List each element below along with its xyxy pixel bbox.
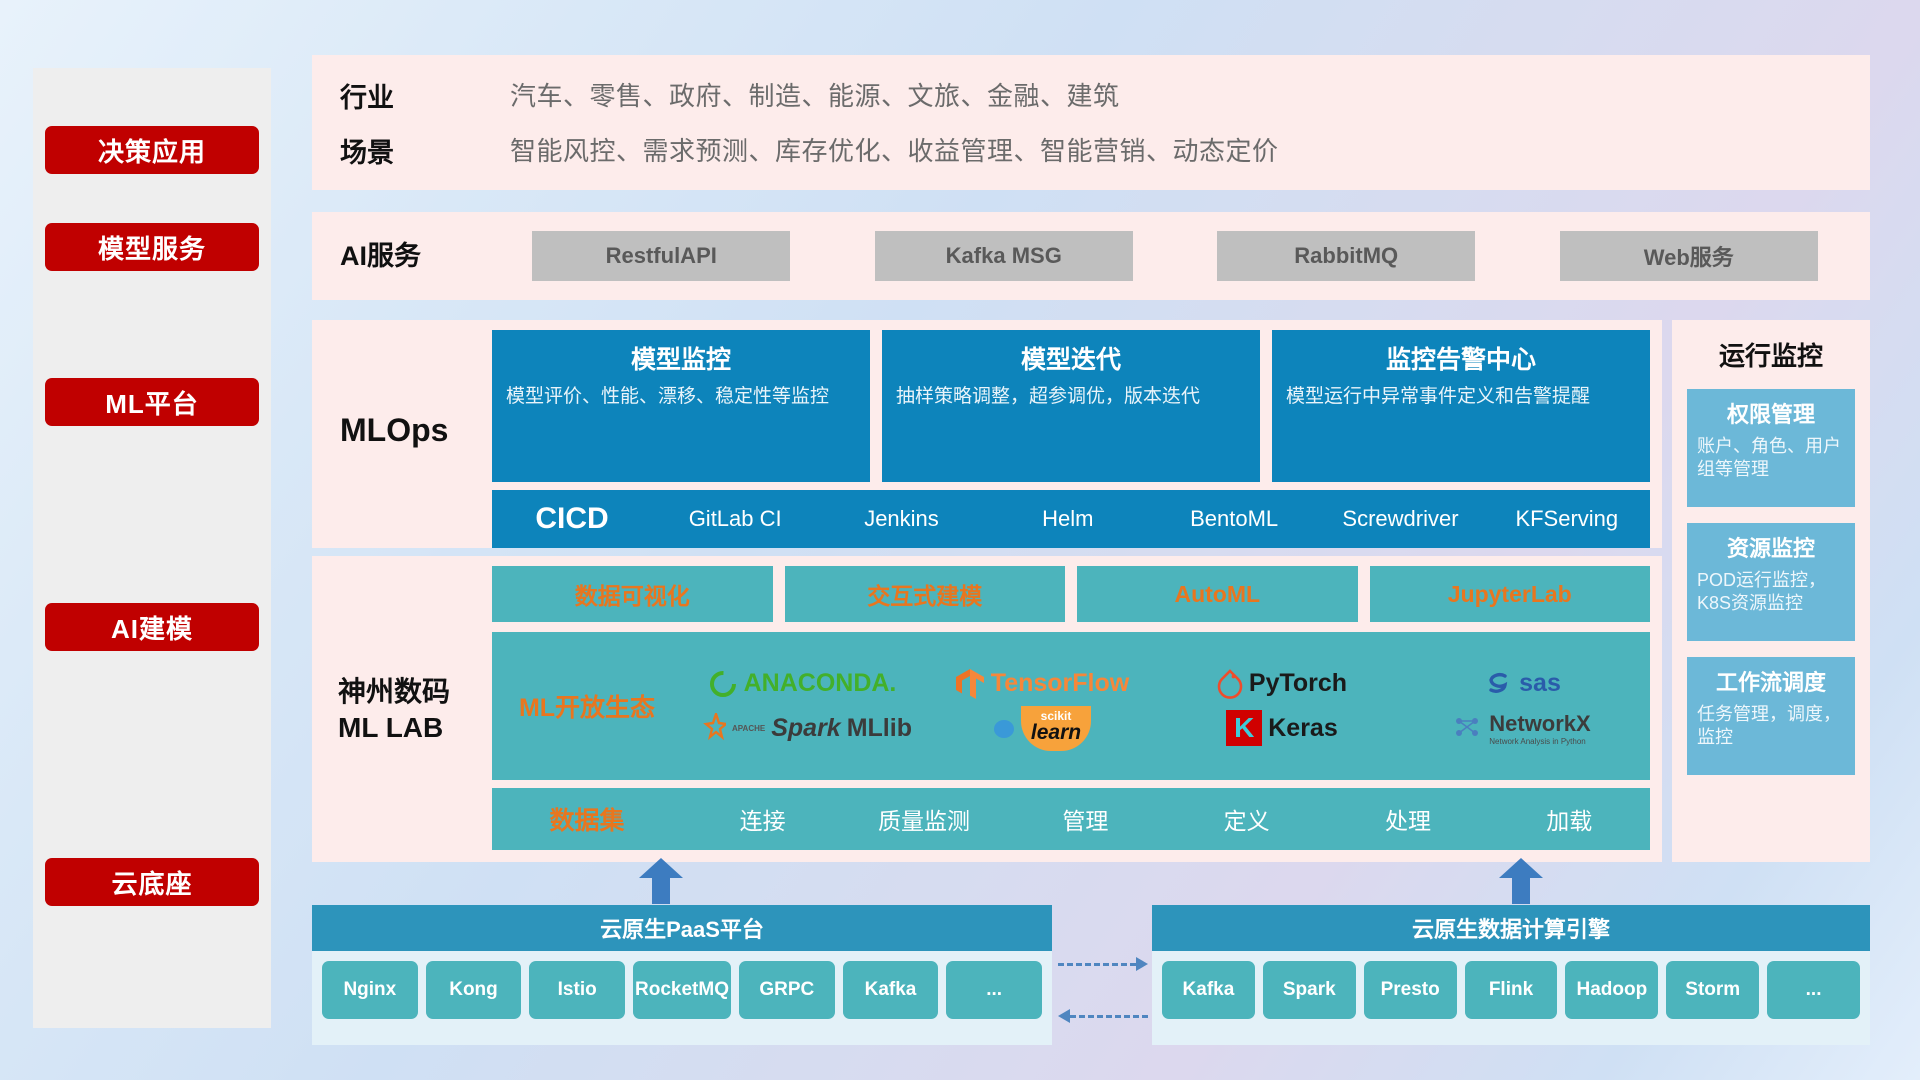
layer-rail: 决策应用 模型服务 ML平台 AI建模 云底座 xyxy=(33,68,271,1028)
ml-open-ecosystem: ML开放生态 ANACONDA. TensorFlow xyxy=(492,632,1650,780)
networkx-icon xyxy=(1453,713,1483,743)
cicd-item-jenkins[interactable]: Jenkins xyxy=(818,507,984,531)
mlops-card-model-monitoring[interactable]: 模型监控 模型评价、性能、漂移、稳定性等监控 xyxy=(492,330,870,482)
rail-item-ai-modeling[interactable]: AI建模 xyxy=(45,603,259,651)
paas-panel-title: 云原生PaaS平台 xyxy=(312,905,1052,951)
card-title: 资源监控 xyxy=(1697,531,1845,563)
rail-item-cloud-base[interactable]: 云底座 xyxy=(45,858,259,906)
compute-chip-spark[interactable]: Spark xyxy=(1263,961,1356,1019)
card-desc: 抽样策略调整，超参调优，版本迭代 xyxy=(896,384,1246,409)
cicd-item-row: GitLab CI Jenkins Helm BentoML Screwdriv… xyxy=(652,507,1650,531)
card-desc: 账户、角色、用户组等管理 xyxy=(1697,435,1845,482)
cicd-bar: CICD GitLab CI Jenkins Helm BentoML Scre… xyxy=(492,490,1650,548)
keras-k-text: K xyxy=(1234,712,1254,744)
card-title: 工作流调度 xyxy=(1697,665,1845,697)
industry-scenario-grid: 行业 汽车、零售、政府、制造、能源、文旅、金融、建筑 场景 智能风控、需求预测、… xyxy=(312,76,1870,170)
compute-chip-flink[interactable]: Flink xyxy=(1465,961,1558,1019)
industry-label: 行业 xyxy=(340,76,510,115)
spark-apache-text: APACHE xyxy=(732,724,765,733)
pytorch-logo-text: PyTorch xyxy=(1249,669,1347,698)
compute-chip-presto[interactable]: Presto xyxy=(1364,961,1457,1019)
decision-application-band: 行业 汽车、零售、政府、制造、能源、文旅、金融、建筑 场景 智能风控、需求预测、… xyxy=(312,55,1870,190)
arrow-line xyxy=(1058,963,1136,966)
up-arrow-compute-engine xyxy=(1499,858,1543,904)
mlops-label: MLOps xyxy=(340,412,448,449)
cloud-native-paas-panel: 云原生PaaS平台 Nginx Kong Istio RocketMQ GRPC… xyxy=(312,905,1052,1045)
lab-chip-automl[interactable]: AutoML xyxy=(1077,566,1358,622)
service-chip-restfulapi[interactable]: RestfulAPI xyxy=(532,231,790,281)
tensorflow-logo: TensorFlow xyxy=(955,668,1129,700)
compute-chip-kafka[interactable]: Kafka xyxy=(1162,961,1255,1019)
card-title: 模型监控 xyxy=(506,340,856,376)
anaconda-logo-text: ANACONDA. xyxy=(744,669,897,698)
paas-chip-rocketmq[interactable]: RocketMQ xyxy=(633,961,731,1019)
arrow-head-left xyxy=(1058,1009,1070,1023)
rail-item-label: ML平台 xyxy=(105,384,199,421)
dataset-item-load[interactable]: 加载 xyxy=(1489,802,1650,836)
paas-chip-nginx[interactable]: Nginx xyxy=(322,961,418,1019)
up-arrow-paas xyxy=(639,858,683,904)
sas-logo: sas xyxy=(1483,669,1561,699)
ai-service-band: AI服务 RestfulAPI Kafka MSG RabbitMQ Web服务 xyxy=(312,212,1870,300)
industry-values: 汽车、零售、政府、制造、能源、文旅、金融、建筑 xyxy=(510,76,1870,115)
ecosystem-logo-grid: ANACONDA. TensorFlow PyTorch xyxy=(682,661,1650,751)
rail-item-model-service[interactable]: 模型服务 xyxy=(45,223,259,271)
cicd-item-gitlab-ci[interactable]: GitLab CI xyxy=(652,507,818,531)
paas-chip-kong[interactable]: Kong xyxy=(426,961,522,1019)
rail-item-label: 决策应用 xyxy=(98,132,206,169)
compute-chip-storm[interactable]: Storm xyxy=(1666,961,1759,1019)
ai-service-chip-row: RestfulAPI Kafka MSG RabbitMQ Web服务 xyxy=(480,231,1870,281)
anaconda-logo: ANACONDA. xyxy=(708,669,897,699)
arrow-line xyxy=(1070,1015,1148,1018)
mlops-card-row: 模型监控 模型评价、性能、漂移、稳定性等监控 模型迭代 抽样策略调整，超参调优，… xyxy=(492,330,1650,482)
rail-item-label: 云底座 xyxy=(111,864,192,901)
ml-lab-chip-row: 数据可视化 交互式建模 AutoML JupyterLab xyxy=(492,566,1650,622)
sas-logo-text: sas xyxy=(1519,669,1561,698)
cicd-item-helm[interactable]: Helm xyxy=(985,507,1151,531)
cloud-native-compute-engine-panel: 云原生数据计算引擎 Kafka Spark Presto Flink Hadoo… xyxy=(1152,905,1870,1045)
compute-chip-more[interactable]: ... xyxy=(1767,961,1860,1019)
ai-service-label: AI服务 xyxy=(340,239,480,274)
compute-chip-hadoop[interactable]: Hadoop xyxy=(1565,961,1658,1019)
card-title: 权限管理 xyxy=(1697,397,1845,429)
cicd-item-kfserving[interactable]: KFServing xyxy=(1484,507,1650,531)
paas-chip-istio[interactable]: Istio xyxy=(529,961,625,1019)
anaconda-icon xyxy=(708,669,738,699)
paas-chip-kafka[interactable]: Kafka xyxy=(843,961,939,1019)
service-chip-kafka-msg[interactable]: Kafka MSG xyxy=(875,231,1133,281)
spark-mllib-logo: APACHE Spark MLlib xyxy=(692,713,912,743)
paas-chip-grpc[interactable]: GRPC xyxy=(739,961,835,1019)
card-title: 监控告警中心 xyxy=(1286,340,1636,376)
monitor-card-workflow[interactable]: 工作流调度 任务管理，调度，监控 xyxy=(1687,657,1855,775)
pytorch-icon xyxy=(1217,669,1243,699)
mlops-card-alert-center[interactable]: 监控告警中心 模型运行中异常事件定义和告警提醒 xyxy=(1272,330,1650,482)
rail-item-label: AI建模 xyxy=(111,609,193,646)
networkx-logo-text: NetworkX xyxy=(1489,711,1590,737)
ml-lab-label-line2: ML LAB xyxy=(338,710,450,746)
scenario-values: 智能风控、需求预测、库存优化、收益管理、智能营销、动态定价 xyxy=(510,131,1870,170)
card-desc: POD运行监控，K8S资源监控 xyxy=(1697,569,1845,616)
runtime-monitoring-title: 运行监控 xyxy=(1672,320,1870,373)
card-desc: 任务管理，调度，监控 xyxy=(1697,703,1845,750)
arrow-left-to-right xyxy=(1058,958,1148,970)
card-title: 模型迭代 xyxy=(896,340,1246,376)
paas-chip-row: Nginx Kong Istio RocketMQ GRPC Kafka ... xyxy=(312,951,1052,1029)
tensorflow-icon xyxy=(955,668,985,700)
keras-logo: K Keras xyxy=(1226,710,1338,746)
compute-engine-chip-row: Kafka Spark Presto Flink Hadoop Storm ..… xyxy=(1152,951,1870,1029)
paas-chip-more[interactable]: ... xyxy=(946,961,1042,1019)
scenario-label: 场景 xyxy=(340,131,510,170)
spark-star-icon xyxy=(692,713,726,743)
service-chip-web-service[interactable]: Web服务 xyxy=(1560,231,1818,281)
monitor-card-resource[interactable]: 资源监控 POD运行监控，K8S资源监控 xyxy=(1687,523,1855,641)
dataset-label: 数据集 xyxy=(492,801,682,837)
networkx-logo: NetworkX Network Analysis in Python xyxy=(1453,711,1590,746)
dataset-item-define[interactable]: 定义 xyxy=(1166,802,1327,836)
dataset-item-connect[interactable]: 连接 xyxy=(682,802,843,836)
cicd-item-bentoml[interactable]: BentoML xyxy=(1151,507,1317,531)
pytorch-logo: PyTorch xyxy=(1217,669,1347,699)
keras-icon: K xyxy=(1226,710,1262,746)
spark-logo-text: Spark xyxy=(771,714,840,743)
rail-item-label: 模型服务 xyxy=(98,229,206,266)
ml-lab-label-line1: 神州数码 xyxy=(338,674,450,710)
service-chip-rabbitmq[interactable]: RabbitMQ xyxy=(1217,231,1475,281)
lab-chip-jupyterlab[interactable]: JupyterLab xyxy=(1370,566,1651,622)
scikit-learn-logo: scikit learn xyxy=(993,706,1091,751)
networkx-subtitle: Network Analysis in Python xyxy=(1489,737,1590,746)
dataset-item-quality[interactable]: 质量监测 xyxy=(843,802,1004,836)
card-desc: 模型评价、性能、漂移、稳定性等监控 xyxy=(506,384,856,409)
cicd-title: CICD xyxy=(492,502,652,536)
lab-chip-interactive-modeling[interactable]: 交互式建模 xyxy=(785,566,1066,622)
runtime-monitoring-band: 运行监控 权限管理 账户、角色、用户组等管理 资源监控 POD运行监控，K8S资… xyxy=(1672,320,1870,862)
rail-item-ml-platform[interactable]: ML平台 xyxy=(45,378,259,426)
dataset-item-row: 连接 质量监测 管理 定义 处理 加载 xyxy=(682,802,1650,836)
rail-item-decision-app[interactable]: 决策应用 xyxy=(45,126,259,174)
lab-chip-data-visualization[interactable]: 数据可视化 xyxy=(492,566,773,622)
mlops-band: MLOps 模型监控 模型评价、性能、漂移、稳定性等监控 模型迭代 抽样策略调整… xyxy=(312,320,1662,548)
ml-lab-label: 神州数码 ML LAB xyxy=(338,674,450,747)
dataset-row: 数据集 连接 质量监测 管理 定义 处理 加载 xyxy=(492,788,1650,850)
monitor-card-permission[interactable]: 权限管理 账户、角色、用户组等管理 xyxy=(1687,389,1855,507)
compute-engine-panel-title: 云原生数据计算引擎 xyxy=(1152,905,1870,951)
keras-logo-text: Keras xyxy=(1268,714,1338,743)
arrow-head-right xyxy=(1136,957,1148,971)
card-desc: 模型运行中异常事件定义和告警提醒 xyxy=(1286,384,1636,409)
cicd-item-screwdriver[interactable]: Screwdriver xyxy=(1317,507,1483,531)
ml-ecosystem-label: ML开放生态 xyxy=(492,688,682,724)
mllib-logo-text: MLlib xyxy=(847,714,912,743)
mlops-card-model-iteration[interactable]: 模型迭代 抽样策略调整，超参调优，版本迭代 xyxy=(882,330,1260,482)
ml-lab-band: 神州数码 ML LAB 数据可视化 交互式建模 AutoML JupyterLa… xyxy=(312,556,1662,862)
arrow-right-to-left xyxy=(1058,1010,1148,1022)
dataset-item-manage[interactable]: 管理 xyxy=(1005,802,1166,836)
tensorflow-logo-text: TensorFlow xyxy=(991,669,1129,698)
scikit-bottom-text: learn xyxy=(1031,723,1081,743)
sas-icon xyxy=(1483,669,1513,699)
dataset-item-process[interactable]: 处理 xyxy=(1327,802,1488,836)
